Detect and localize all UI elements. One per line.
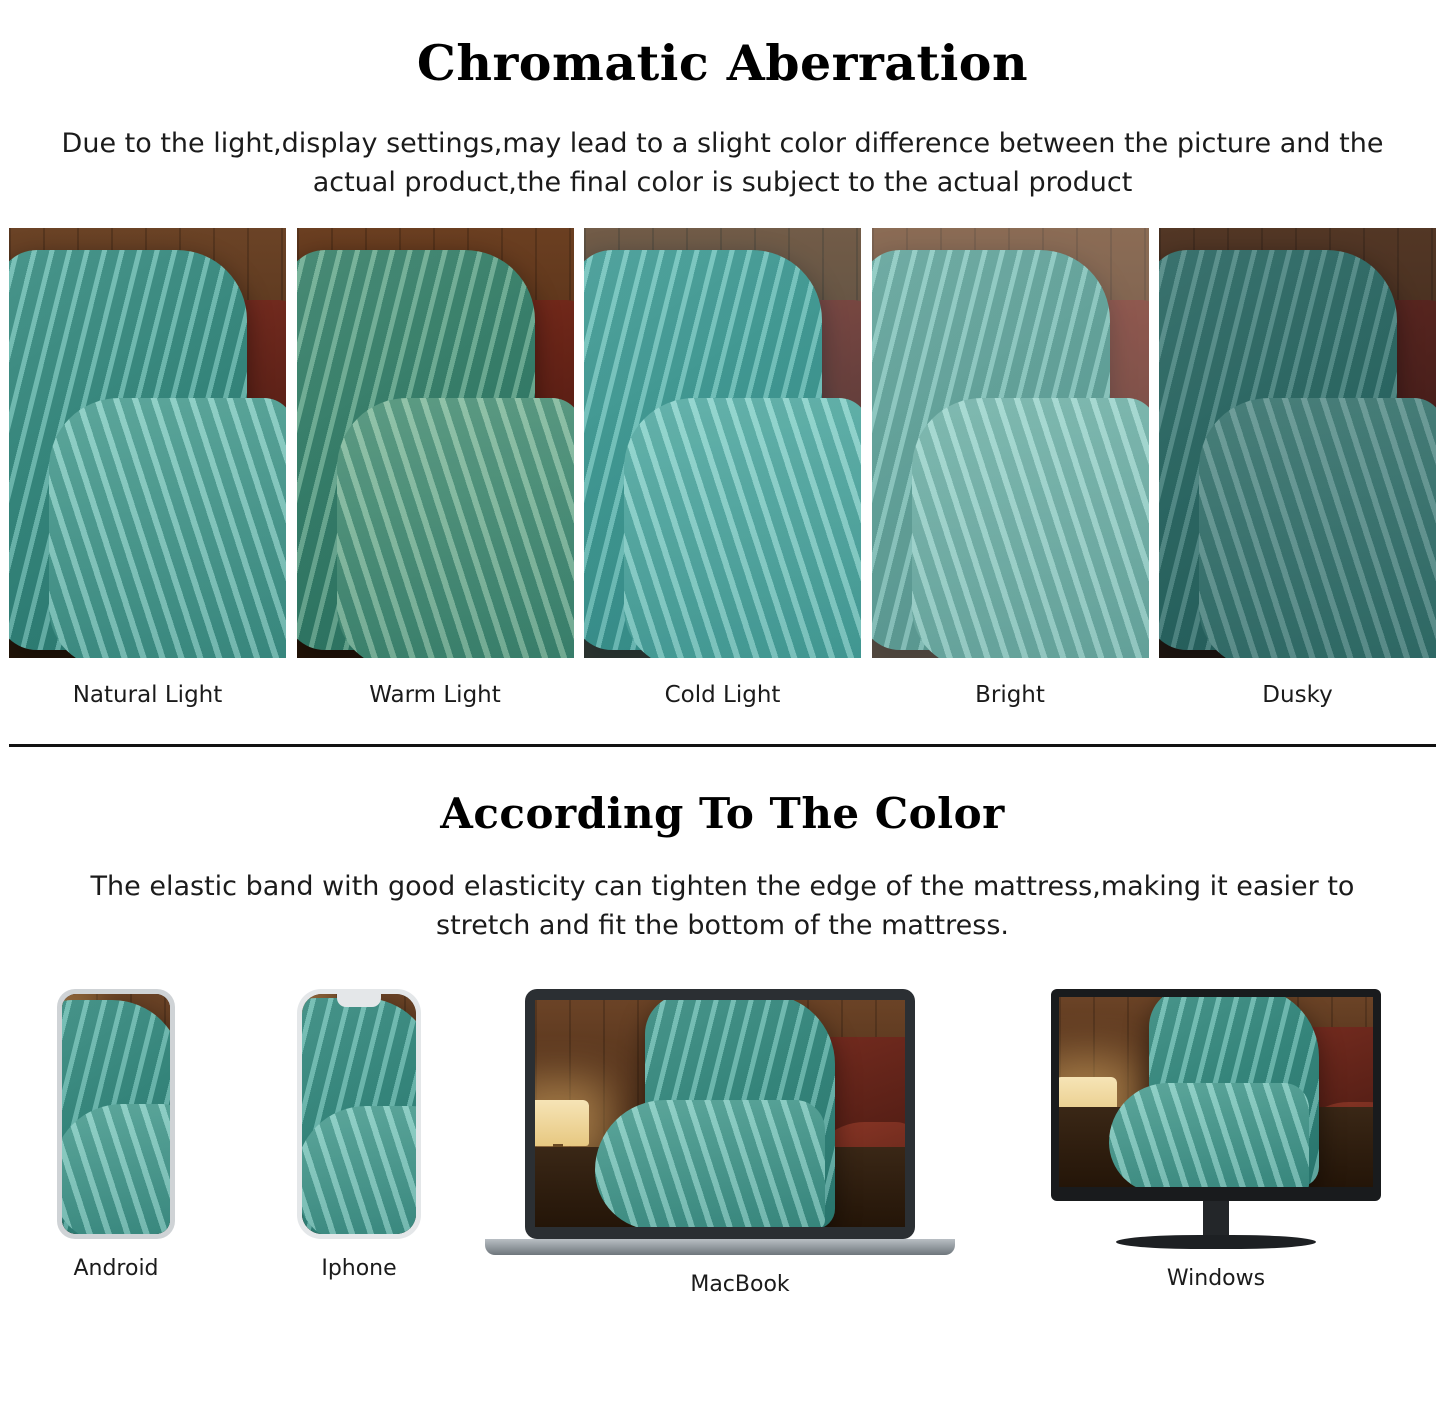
section-divider xyxy=(9,744,1436,747)
android-phone-frame xyxy=(57,989,175,1239)
windows-monitor-screen xyxy=(1059,997,1373,1187)
device-macbook: MacBook xyxy=(525,989,955,1299)
lighting-caption: Cold Light xyxy=(584,680,861,710)
device-caption: Iphone xyxy=(297,1255,421,1283)
device-preview-row: Android Iphone xyxy=(9,989,1436,1319)
blanket-photo-natural-light xyxy=(9,228,286,658)
page-title-according-to-the-color: According To The Color xyxy=(0,789,1445,839)
blanket-photo-cold-light xyxy=(584,228,861,658)
iphone-frame xyxy=(297,989,421,1239)
iphone-screen xyxy=(302,994,416,1234)
lighting-caption: Warm Light xyxy=(297,680,574,710)
page-title-chromatic-aberration: Chromatic Aberration xyxy=(0,33,1445,91)
lighting-swatch-dusky: Dusky xyxy=(1159,228,1436,710)
macbook-screen xyxy=(535,1000,905,1227)
windows-monitor-bezel xyxy=(1051,989,1381,1201)
macbook-lid xyxy=(525,989,915,1239)
product-detail-page: Chromatic Aberration Due to the light,di… xyxy=(0,33,1445,1405)
windows-monitor-stand xyxy=(1116,1235,1316,1249)
lighting-swatch-bright: Bright xyxy=(872,228,1149,710)
iphone-notch xyxy=(337,994,381,1007)
device-caption: MacBook xyxy=(525,1271,955,1299)
chromatic-aberration-description: Due to the light,display settings,may le… xyxy=(58,124,1388,202)
android-screen xyxy=(62,994,170,1234)
according-to-the-color-description: The elastic band with good elasticity ca… xyxy=(78,867,1368,945)
device-iphone: Iphone xyxy=(297,989,421,1283)
lighting-swatch-cold-light: Cold Light xyxy=(584,228,861,710)
blanket-photo-warm-light xyxy=(297,228,574,658)
blanket-photo-bright xyxy=(872,228,1149,658)
lighting-caption: Dusky xyxy=(1159,680,1436,710)
device-windows: Windows xyxy=(1051,989,1381,1293)
device-caption: Android xyxy=(57,1255,175,1283)
lighting-swatch-natural-light: Natural Light xyxy=(9,228,286,710)
windows-monitor-neck xyxy=(1203,1201,1229,1235)
device-android: Android xyxy=(57,989,175,1283)
lighting-swatch-warm-light: Warm Light xyxy=(297,228,574,710)
lighting-comparison-strip: Natural Light Warm Light xyxy=(9,228,1436,710)
device-caption: Windows xyxy=(1051,1265,1381,1293)
blanket-photo-dusky xyxy=(1159,228,1436,658)
lighting-caption: Bright xyxy=(872,680,1149,710)
lighting-caption: Natural Light xyxy=(9,680,286,710)
macbook-base xyxy=(485,1239,955,1255)
